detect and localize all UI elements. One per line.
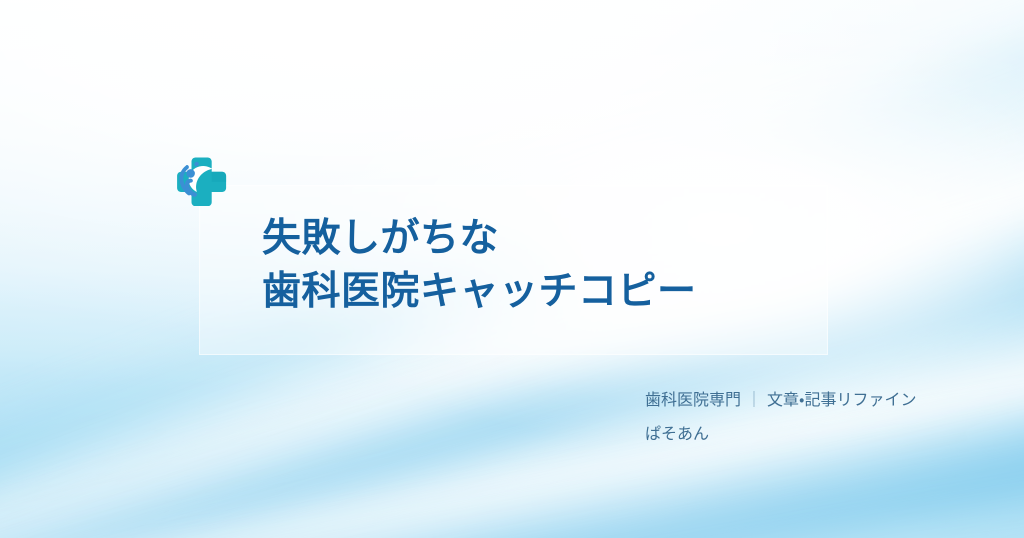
title-line-2: 歯科医院キャッチコピー: [262, 265, 822, 318]
credit-service-text: 文章・記事リファイン: [767, 390, 916, 409]
dental-clinic-cross-person-logo-icon: [174, 152, 228, 206]
page-title: 失敗しがちな 歯科医院キャッチコピー: [262, 212, 822, 318]
cross-shape: [177, 158, 226, 207]
credit-separator: ｜: [741, 390, 767, 409]
credit-specialty-text: 歯科医院専門: [645, 390, 741, 409]
slide-canvas: 失敗しがちな 歯科医院キャッチコピー 歯科医院専門｜文章・記事リファイン ぱそあ…: [0, 0, 1024, 538]
credit-block: 歯科医院専門｜文章・記事リファイン ぱそあん: [645, 383, 985, 451]
credit-line-specialty: 歯科医院専門｜文章・記事リファイン: [645, 383, 985, 417]
title-line-1: 失敗しがちな: [262, 212, 822, 265]
credit-brand-name: ぱそあん: [645, 417, 985, 451]
